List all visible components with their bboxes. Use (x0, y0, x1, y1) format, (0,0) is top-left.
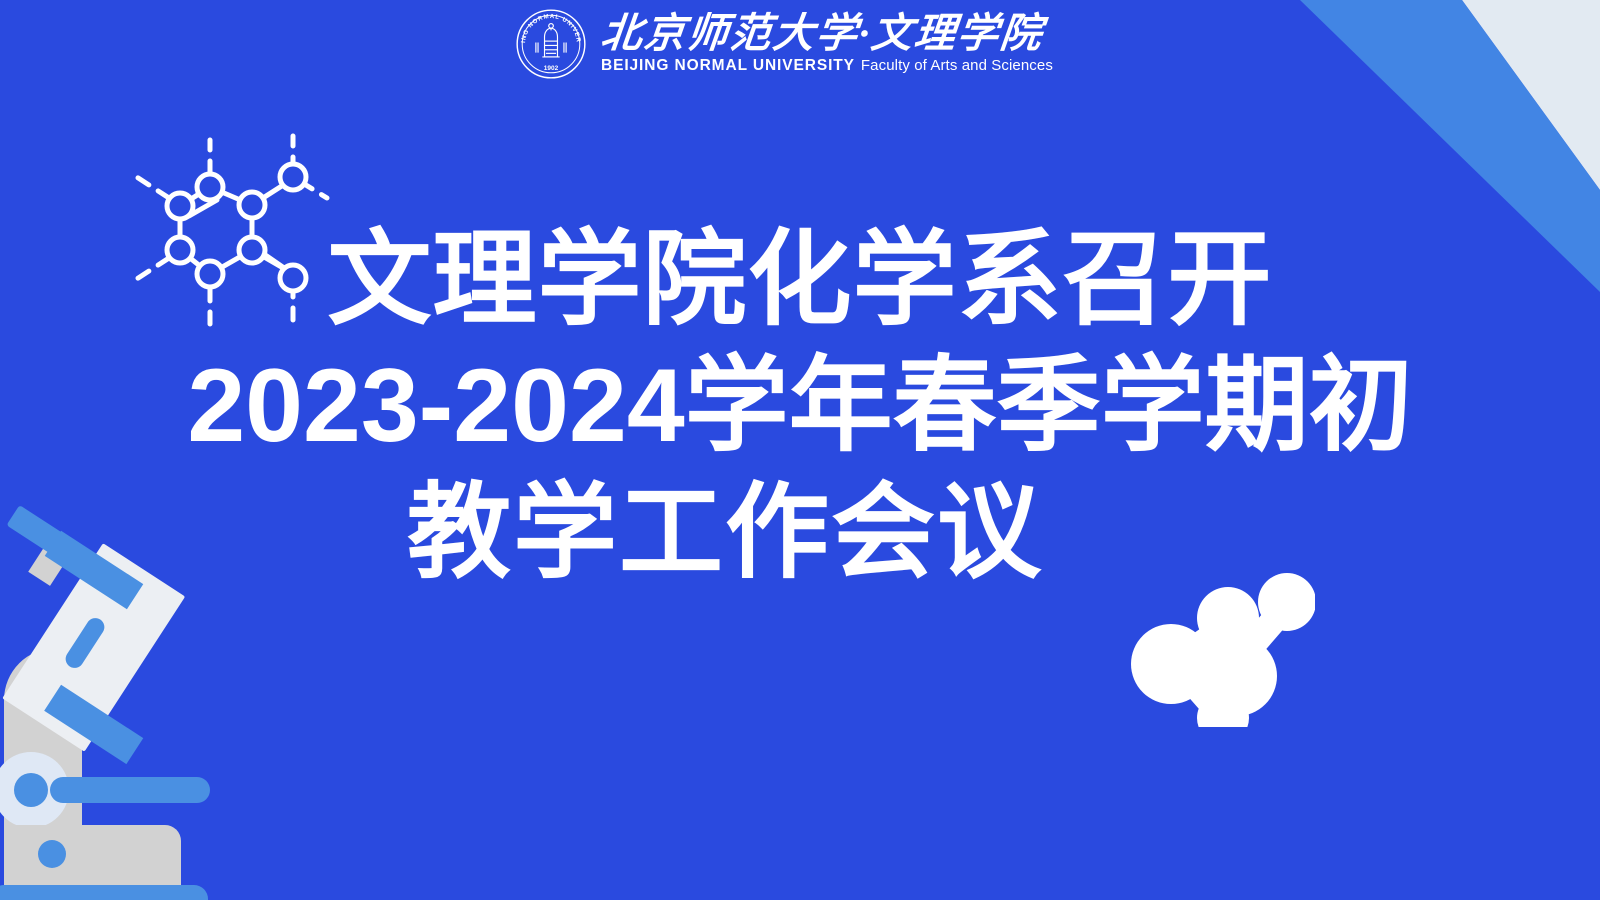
ring-atom (167, 193, 193, 219)
headline-line-2: 2023-2024学年春季学期初 (0, 348, 1600, 464)
microscope-base-knob (38, 840, 66, 868)
microscope-base-block (4, 825, 181, 887)
logo-english-row: BEIJING NORMAL UNIVERSITY Faculty of Art… (601, 57, 1053, 75)
ring-atom (239, 192, 265, 218)
seal-year: 1902 (544, 65, 559, 72)
microscope-stage-arm (50, 777, 210, 803)
logo-text-block: 北京师范大学·文理学院 BEIJING NORMAL UNIVERSITY Fa… (601, 13, 1053, 75)
university-seal-icon: BEIJING NORMAL UNIVERSITY 1902 (515, 8, 587, 80)
logo-chinese-name: 北京师范大学·文理学院 (599, 13, 1055, 55)
band-light (1462, 0, 1600, 190)
university-logo-lockup: BEIJING NORMAL UNIVERSITY 1902 北京师范大学·文理… (515, 8, 1053, 80)
microscope-foot (0, 885, 208, 900)
poster-headline: 文理学院化学系召开 2023-2024学年春季学期初 教学工作会议 (0, 222, 1600, 591)
ring-atom (280, 164, 306, 190)
ring-atom (197, 174, 223, 200)
seal-arc-text: BEIJING NORMAL UNIVERSITY (515, 8, 581, 43)
headline-line-3: 教学工作会议 (0, 475, 1600, 591)
headline-line-1: 文理学院化学系召开 (0, 222, 1600, 338)
logo-english-faculty: Faculty of Arts and Sciences (861, 57, 1053, 74)
svg-text:BEIJING NORMAL UNIVERSITY: BEIJING NORMAL UNIVERSITY (515, 8, 581, 43)
microscope-focus-knob-center (14, 773, 48, 807)
logo-english-university: BEIJING NORMAL UNIVERSITY (601, 57, 855, 75)
poster-canvas: BEIJING NORMAL UNIVERSITY 1902 北京师范大学·文理… (0, 0, 1600, 900)
